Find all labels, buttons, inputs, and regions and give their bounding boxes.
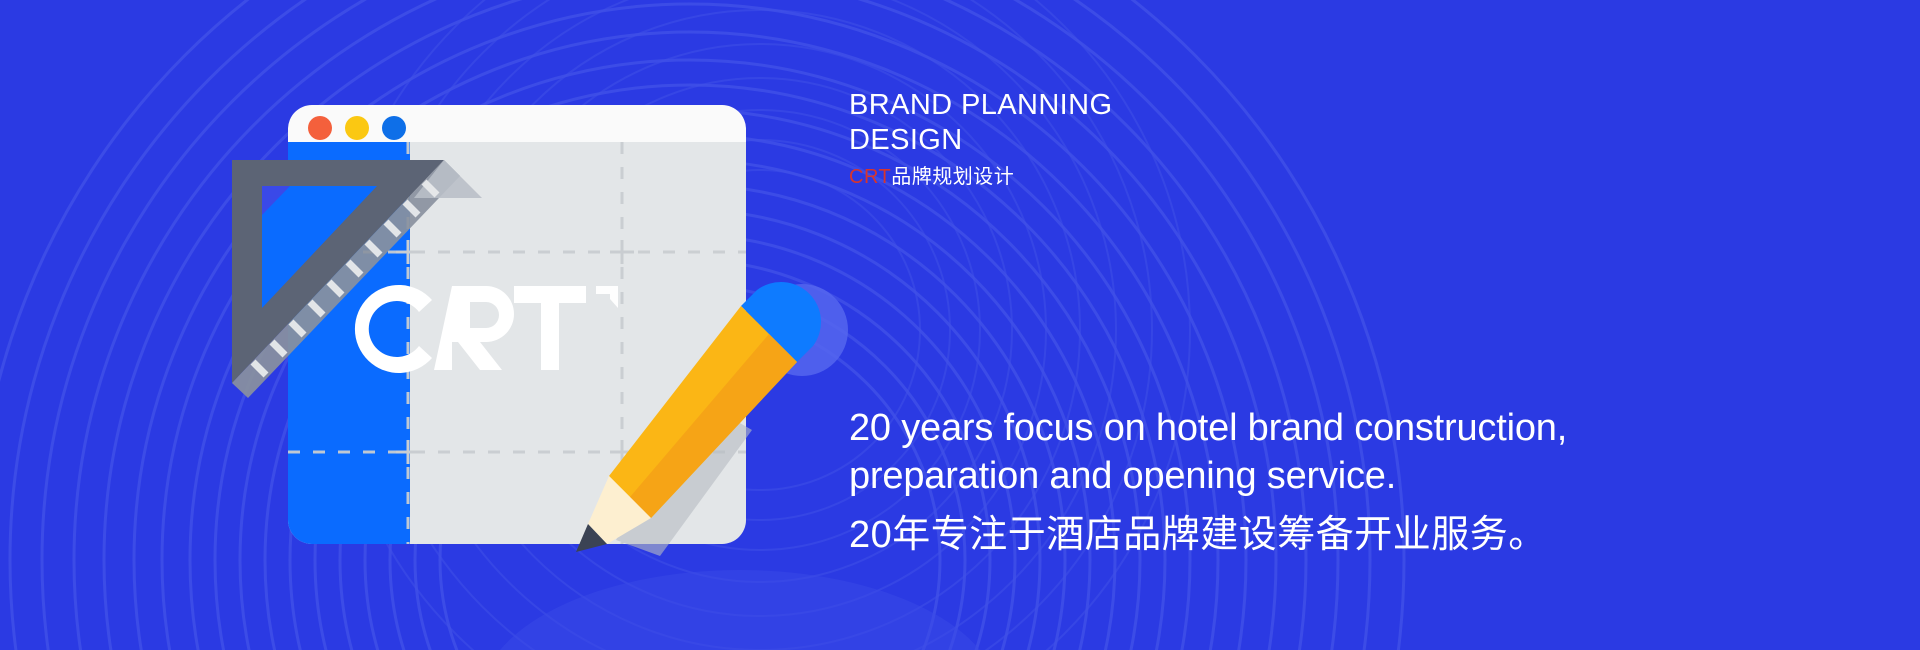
brand-subtitle-crt: CRT xyxy=(849,166,891,188)
tagline-english: 20 years focus on hotel brand constructi… xyxy=(849,404,1849,500)
triangle-ruler-icon xyxy=(232,160,482,398)
pencil-halo-circle xyxy=(756,284,848,376)
brand-banner: BRAND PLANNING DESIGN CRT品牌规划设计 20 years… xyxy=(0,0,1920,650)
design-guide-grid xyxy=(288,142,746,544)
maximize-dot xyxy=(382,116,406,140)
browser-window-mockup xyxy=(288,105,746,544)
brand-title-en: BRAND PLANNING DESIGN xyxy=(849,88,1549,158)
illustration-logo-text: CRT xyxy=(0,0,1,1)
crt-logo-mark xyxy=(355,285,618,373)
brand-heading-block: BRAND PLANNING DESIGN CRT品牌规划设计 xyxy=(849,88,1549,189)
pencil-icon xyxy=(576,282,821,552)
brand-subtitle-cn: CRT品牌规划设计 xyxy=(849,165,1549,189)
brand-subtitle-chinese: 品牌规划设计 xyxy=(891,166,1014,188)
tagline-block: 20 years focus on hotel brand constructi… xyxy=(849,404,1849,558)
ruler-ticks xyxy=(253,182,437,375)
minimize-dot xyxy=(345,116,369,140)
pencil-shadow xyxy=(616,400,752,556)
close-dot xyxy=(308,116,332,140)
tagline-chinese: 20年专注于酒店品牌建设筹备开业服务。 xyxy=(849,512,1849,558)
window-traffic-light-dots xyxy=(308,116,406,140)
